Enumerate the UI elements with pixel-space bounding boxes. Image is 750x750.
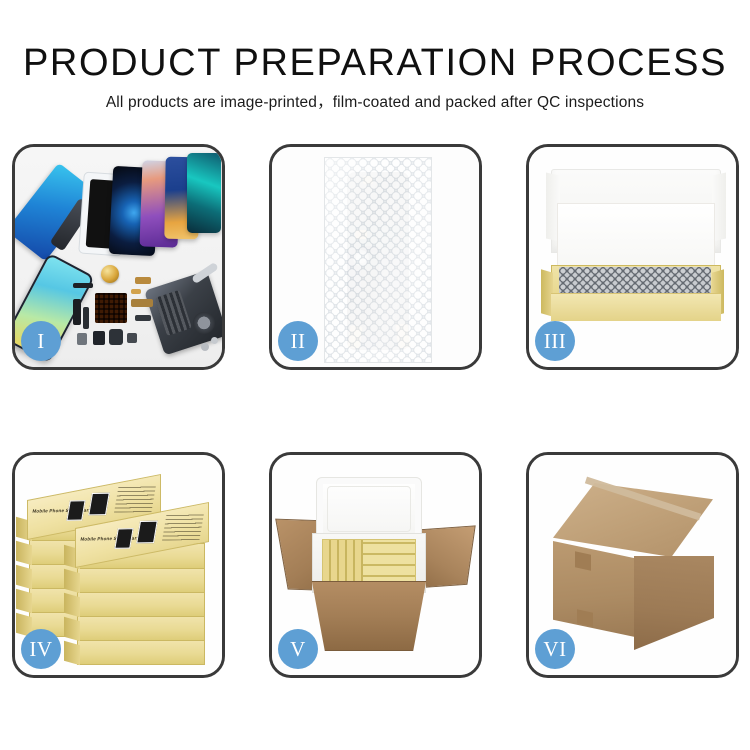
step-badge-3: III: [535, 321, 575, 361]
box-side: [16, 565, 32, 590]
box-spec-text-block: [162, 513, 204, 540]
process-step-3: III: [526, 144, 739, 370]
foam-sheet: [557, 203, 715, 269]
process-step-5: V: [269, 452, 482, 678]
carton-tape-upper: [575, 551, 591, 570]
spare-part: [135, 315, 151, 321]
spare-part: [131, 299, 153, 307]
box-side: [64, 641, 80, 666]
step-badge-2: II: [278, 321, 318, 361]
box-column-right: [363, 540, 415, 585]
retail-box: [77, 567, 205, 593]
box-front-wall: [551, 293, 721, 321]
process-step-grid: I II: [0, 0, 750, 750]
plastic-gloss: [325, 158, 431, 362]
step-badge-1: I: [21, 321, 61, 361]
process-step-1: I: [12, 144, 225, 370]
spare-part: [73, 283, 93, 288]
screw-part: [201, 343, 209, 351]
box-window-screen: [88, 493, 110, 516]
box-window-screen: [66, 500, 85, 521]
screw-part: [211, 337, 218, 344]
carton-body: [304, 581, 434, 651]
bubble-wrap-bag: [324, 157, 432, 363]
packed-retail-boxes: [322, 539, 416, 585]
retail-box: [77, 615, 205, 641]
spare-part: [127, 333, 137, 343]
box-side: [64, 593, 80, 618]
vibration-motor-part: [101, 265, 119, 283]
chip-grid-part: [95, 293, 127, 323]
box-window-screen: [114, 528, 133, 549]
phone-teal-display: [187, 153, 221, 233]
box-side: [16, 589, 32, 614]
carton-right-face: [634, 556, 714, 650]
spare-part: [83, 307, 89, 329]
box-label-text: Mobile Phone Spare Parts: [32, 507, 93, 513]
process-step-4: Mobile Phone Spare Parts Mobile Phone Sp…: [12, 452, 225, 678]
spare-part: [131, 289, 141, 294]
box-side: [16, 541, 32, 566]
spare-part: [109, 329, 123, 345]
step-badge-6: VI: [535, 629, 575, 669]
retail-box: [77, 591, 205, 617]
box-label-text: Mobile Phone Spare Parts: [80, 535, 141, 541]
box-spec-text-block: [114, 485, 156, 512]
box-side: [64, 617, 80, 642]
sealed-carton: [543, 483, 725, 643]
box-window-screen: [136, 521, 158, 544]
process-step-2: II: [269, 144, 482, 370]
spare-part: [73, 299, 81, 325]
process-step-6: VI: [526, 452, 739, 678]
step-badge-4: IV: [21, 629, 61, 669]
carton-left-face: [553, 541, 635, 637]
step-badge-5: V: [278, 629, 318, 669]
spare-part: [135, 277, 151, 284]
retail-box: [77, 639, 205, 665]
box-side: [64, 569, 80, 594]
spare-part: [93, 331, 105, 345]
spare-part: [77, 333, 87, 345]
box-column-left: [323, 540, 363, 585]
